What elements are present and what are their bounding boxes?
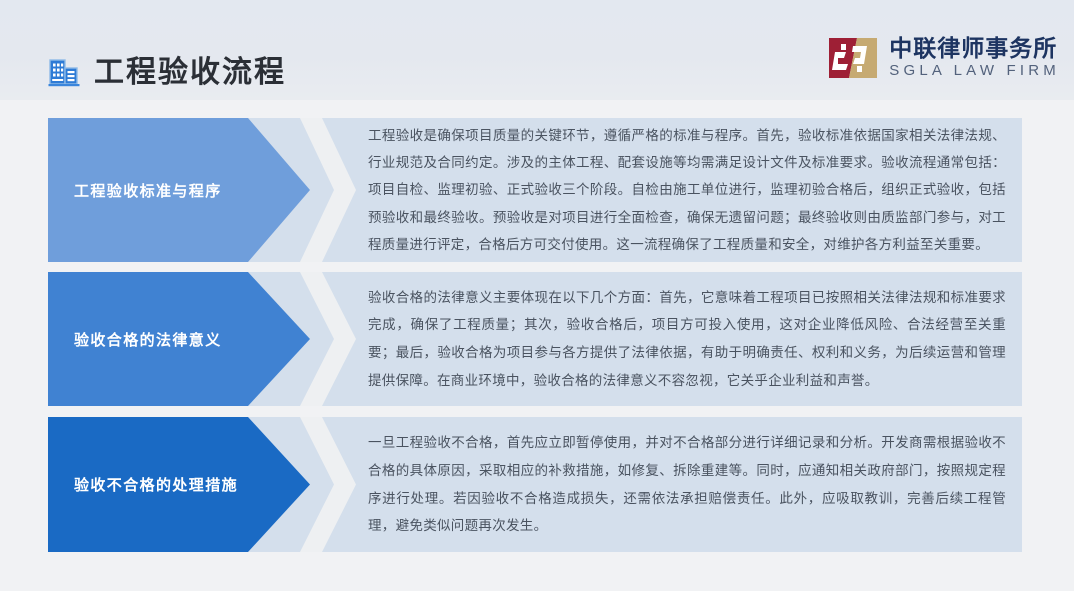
section-body: 一旦工程验收不合格，首先应立即暂停使用，并对不合格部分进行详细记录和分析。开发商… (368, 417, 1022, 552)
section-label: 验收合格的法律意义 (48, 329, 222, 350)
logo-text: 中联律师事务所 SGLA LAW FIRM (889, 36, 1060, 80)
section-paragraph: 工程验收是确保项目质量的关键环节，遵循严格的标准与程序。首先，验收标准依据国家相… (368, 122, 1006, 258)
section-chevron: 工程验收标准与程序 (48, 118, 310, 262)
title-row: 工程验收流程 (48, 38, 286, 108)
section-chevron: 验收合格的法律意义 (48, 272, 310, 406)
section-chevron: 验收不合格的处理措施 (48, 417, 310, 552)
section-row: 验收不合格的处理措施 一旦工程验收不合格，首先应立即暂停使用，并对不合格部分进行… (48, 417, 1022, 552)
sgla-monogram-icon (829, 38, 877, 78)
section-body: 验收合格的法律意义主要体现在以下几个方面：首先，它意味着工程项目已按照相关法律法… (368, 272, 1022, 406)
section-label: 工程验收标准与程序 (48, 180, 222, 201)
section-body: 工程验收是确保项目质量的关键环节，遵循严格的标准与程序。首先，验收标准依据国家相… (368, 118, 1022, 262)
section-paragraph: 验收合格的法律意义主要体现在以下几个方面：首先，它意味着工程项目已按照相关法律法… (368, 284, 1006, 395)
section-row: 验收合格的法律意义 验收合格的法律意义主要体现在以下几个方面：首先，它意味着工程… (48, 272, 1022, 406)
building-icon (48, 58, 80, 88)
section-label: 验收不合格的处理措施 (48, 474, 238, 495)
logo-name-cn: 中联律师事务所 (889, 36, 1060, 61)
firm-logo: 中联律师事务所 SGLA LAW FIRM (829, 36, 1060, 80)
logo-name-en: SGLA LAW FIRM (889, 62, 1060, 80)
section-row: 工程验收标准与程序 工程验收是确保项目质量的关键环节，遵循严格的标准与程序。首先… (48, 118, 1022, 262)
section-paragraph: 一旦工程验收不合格，首先应立即暂停使用，并对不合格部分进行详细记录和分析。开发商… (368, 429, 1006, 540)
slide-header: 工程验收流程 中联律师事务所 SGLA LAW FIRM (0, 0, 1074, 100)
slide-canvas: 工程验收流程 中联律师事务所 SGLA LAW FIRM (0, 0, 1074, 591)
content-rows: 工程验收标准与程序 工程验收是确保项目质量的关键环节，遵循严格的标准与程序。首先… (0, 100, 1074, 570)
page-title: 工程验收流程 (94, 58, 286, 88)
